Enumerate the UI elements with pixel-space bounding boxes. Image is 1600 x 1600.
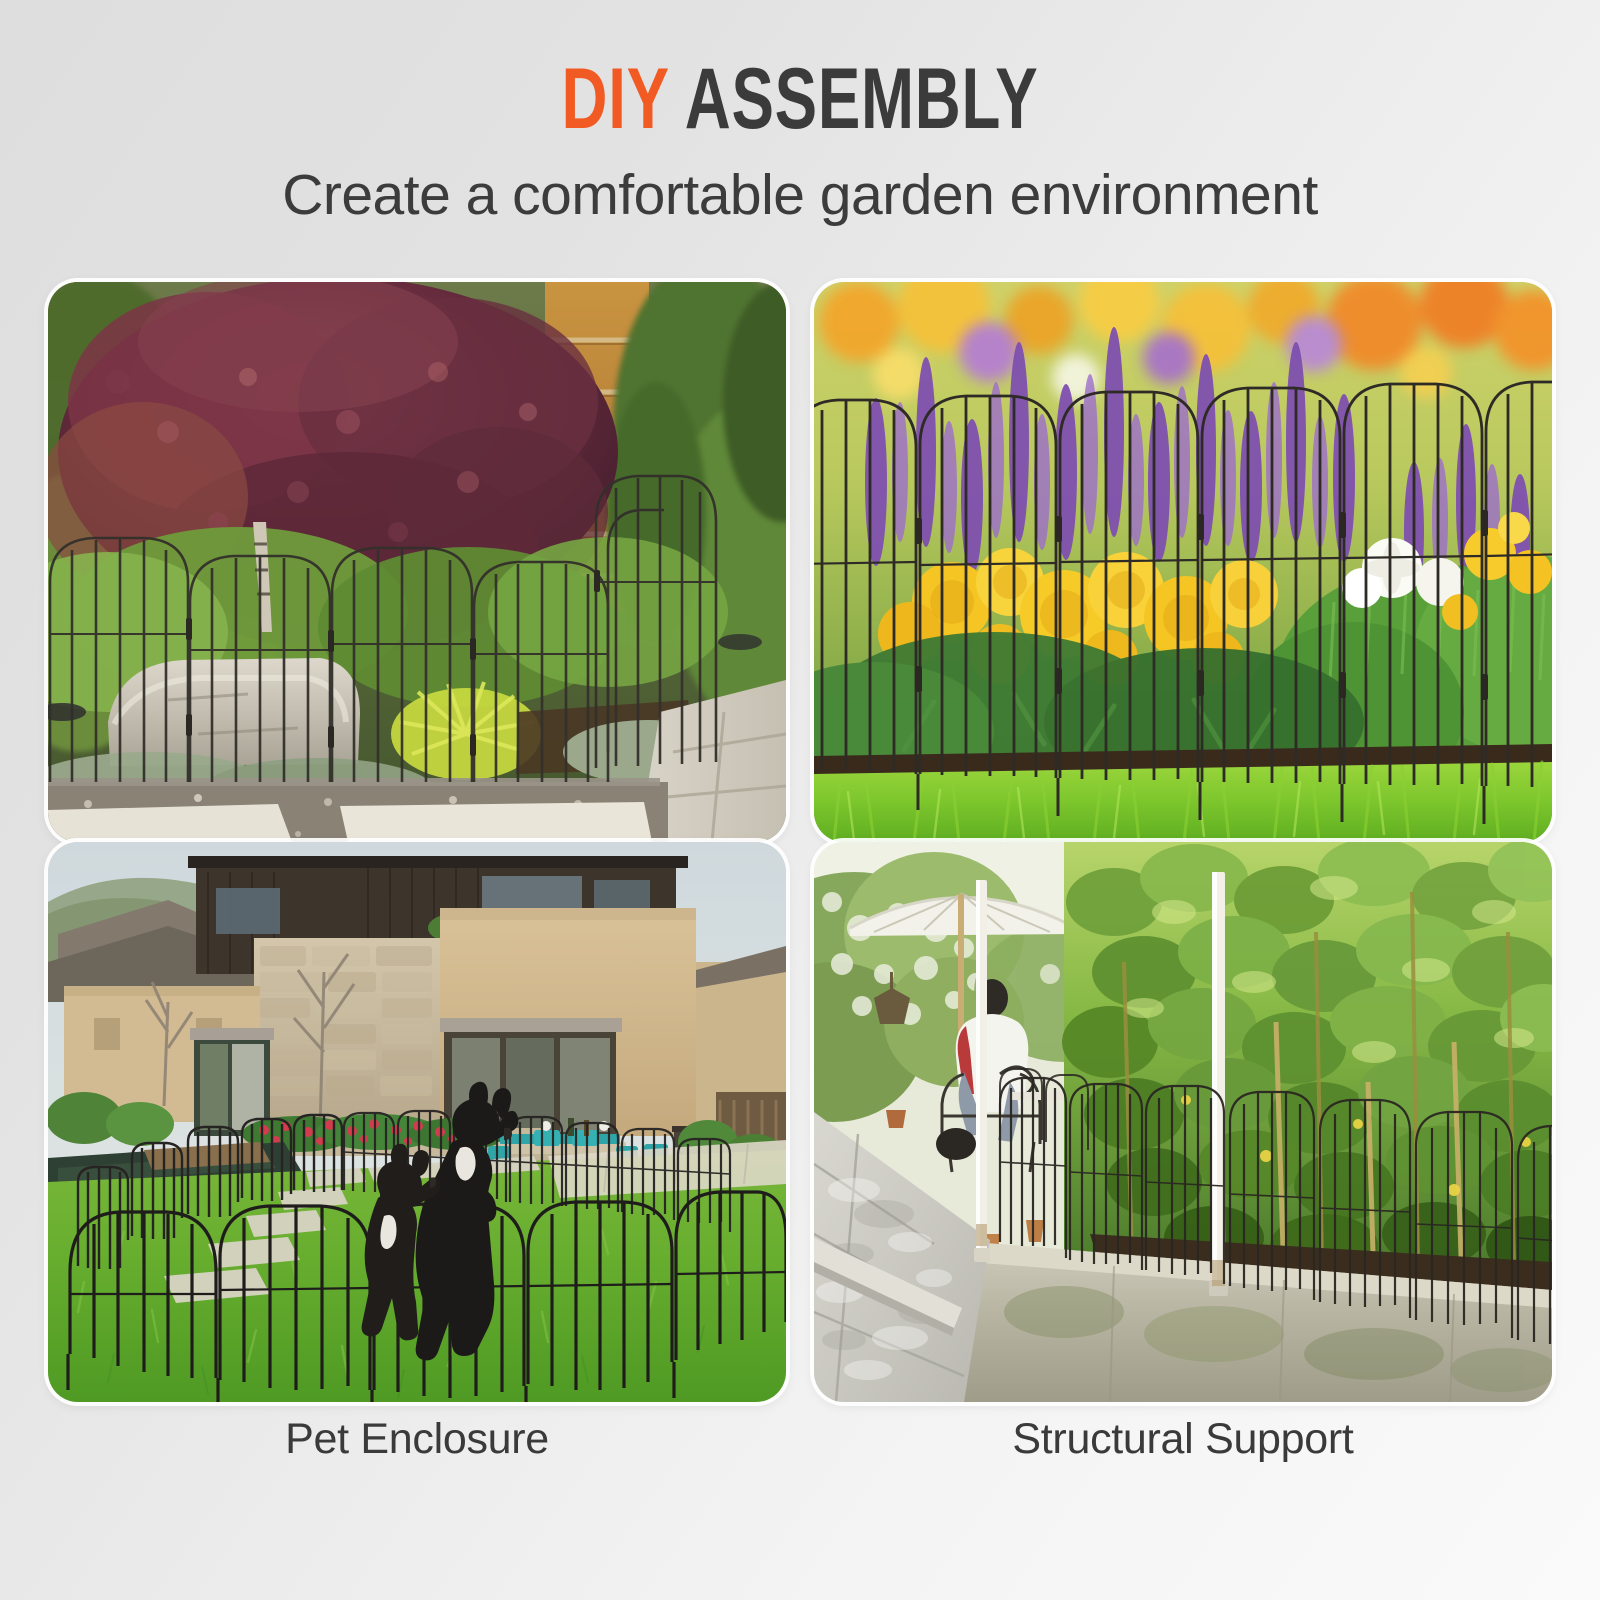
card-boundary-marking: Boundary Marking <box>48 282 786 842</box>
photo-structural-support <box>814 842 1552 1402</box>
page-title: DIY ASSEMBLY <box>208 56 1392 142</box>
caption-structural-support: Structural Support <box>814 1402 1552 1477</box>
title-rest: ASSEMBLY <box>685 51 1039 147</box>
card-pet-enclosure: Pet Enclosure <box>48 842 786 927</box>
card-plant-protection: Plant Protection <box>814 282 1552 842</box>
product-infographic: DIY ASSEMBLY Create a comfortable garden… <box>0 0 1600 1600</box>
page-subtitle: Create a comfortable garden environment <box>0 162 1600 228</box>
photo-boundary-marking <box>48 282 786 842</box>
photo-plant-protection <box>814 282 1552 842</box>
photo-pet-enclosure <box>48 842 786 1402</box>
caption-pet-enclosure: Pet Enclosure <box>48 1402 786 1477</box>
title-accent: DIY <box>562 51 669 147</box>
header: DIY ASSEMBLY Create a comfortable garden… <box>0 0 1600 228</box>
card-structural-support: Structural Support <box>814 842 1552 927</box>
feature-grid: Boundary Marking <box>48 282 1552 1562</box>
